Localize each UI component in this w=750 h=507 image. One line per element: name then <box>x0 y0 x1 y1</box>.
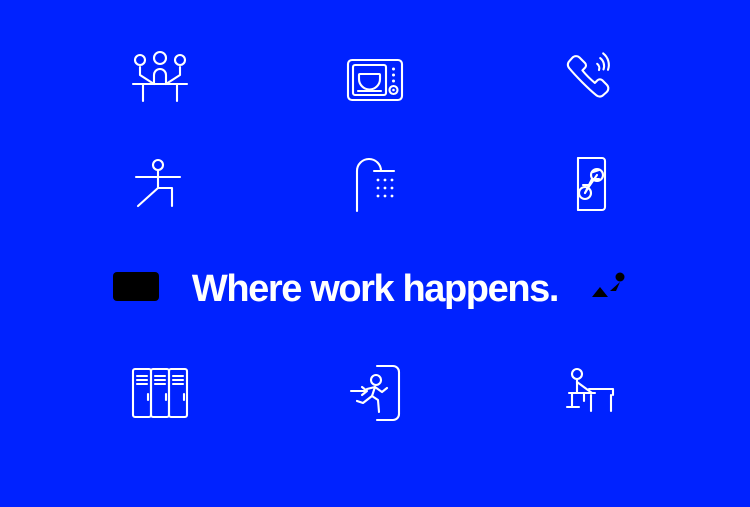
icon-cell-microwave <box>267 28 482 132</box>
yoga-pose-icon <box>132 158 188 210</box>
icon-cell-basketball-hoop <box>91 249 181 339</box>
icon-cell-emergency-exit <box>267 341 482 445</box>
basketball-hoop-icon <box>112 271 160 317</box>
icon-cell-weight-bench <box>564 249 654 339</box>
microwave-icon <box>347 59 403 101</box>
ringing-phone-icon <box>565 53 615 107</box>
page-title: Where work happens. <box>192 270 558 308</box>
icon-cell-yoga-pose <box>52 132 267 236</box>
icon-cell-lockers <box>52 341 267 445</box>
shower-icon <box>354 156 396 212</box>
weight-bench-icon <box>580 271 638 317</box>
icon-cell-bike-storage <box>483 132 698 236</box>
lockers-icon <box>132 368 188 418</box>
desk-worker-icon <box>565 367 615 419</box>
icon-cell-ringing-phone <box>483 28 698 132</box>
icon-cell-meeting-table <box>52 28 267 132</box>
emergency-exit-icon <box>349 365 401 421</box>
icon-cell-shower <box>267 132 482 236</box>
meeting-table-icon <box>129 51 191 109</box>
icon-cell-desk-worker <box>483 341 698 445</box>
bike-storage-icon <box>574 157 606 211</box>
brand-poster: Where work happens. <box>0 0 750 507</box>
